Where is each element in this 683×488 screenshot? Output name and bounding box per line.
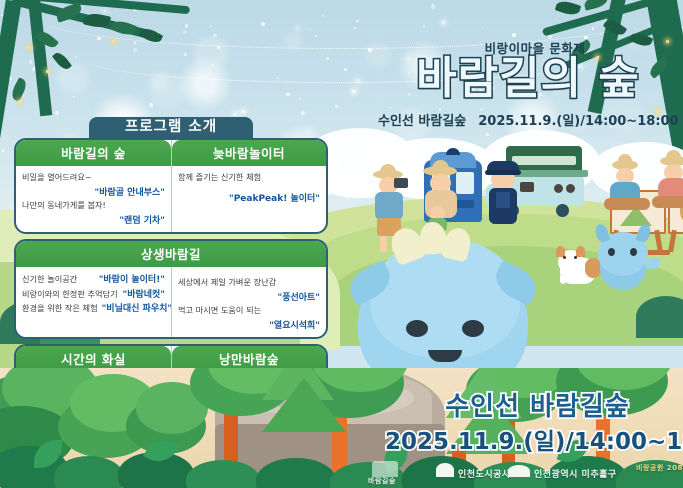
program-line-desc: 환경을 위한 작은 체험 [22, 302, 98, 314]
subline-place: 수인선 바람길숲 [378, 114, 466, 129]
program-line: 환경을 위한 작은 체험 "비닐대신 파우치" [22, 301, 165, 314]
program-line: "랜덤 기차" [22, 213, 165, 226]
program-group-heading: 상생바람길 [16, 241, 326, 267]
footer-logo-4: 비랑공원 2080 [636, 463, 683, 473]
footer-logo-3: 인천광역시 미추홀구 [534, 467, 617, 480]
program-line: 세상에서 제일 가벼운 장난감 [178, 276, 320, 288]
program-line-desc: 비밀을 열어드려요~ [22, 171, 92, 183]
program-line: "풍선아트" [178, 290, 320, 303]
logo-mark-icon [508, 465, 530, 477]
program-line-tag: "바람이 놀이터!" [99, 272, 165, 285]
program-line: 나만의 동네가게를 봅자! [22, 199, 165, 211]
program-section-heading: 늦바람놀이터 [172, 140, 326, 166]
footer-logos: 바람길숲 인천도시공사 인천광역시 미추홀구 비랑공원 2080 [0, 455, 683, 488]
program-line: "열요시석희" [178, 318, 320, 331]
poster-subline: 수인선 바람길숲2025.11.9.(일)/14:00~18:00 [378, 110, 678, 129]
subline-datetime: 2025.11.9.(일)/14:00~18:00 [478, 114, 678, 129]
program-line-desc: 먹고 마시면 도움이 되는 [178, 304, 261, 316]
program-section-heading: 바람길의 숲 [16, 140, 171, 166]
logo-mark-icon [372, 461, 398, 477]
program-line-desc: 세상에서 제일 가벼운 장난감 [178, 276, 276, 288]
program-group: 상생바람길 신기한 놀이공간 "바람이 놀이터!" 비랑이와의 한정판 추억담기… [14, 239, 328, 339]
program-line: 신기한 놀이공간 "바람이 놀이터!" [22, 272, 165, 285]
logo-mark-icon [436, 463, 454, 477]
shrub [636, 296, 683, 338]
program-line-desc: 나만의 동네가게를 봅자! [22, 199, 106, 211]
program-section: 신기한 놀이공간 "바람이 놀이터!" 비랑이와의 한정판 추억담기 "바람네컷… [16, 267, 171, 338]
program-line-tag: "바람골 안내부스" [95, 185, 165, 198]
program-line-tag: "랜덤 기차" [119, 213, 165, 226]
program-line-desc: 함께 즐기는 신기한 체험 [178, 171, 261, 183]
program-section: 세상에서 제일 가벼운 장난감 "풍선아트" 먹고 마시면 도움이 되는 "열요… [171, 267, 326, 338]
bottom-title: 수인선 바람길숲 [395, 386, 680, 423]
poster-root: 비랑이마을 문화제 바람길의 숲 수인선 바람길숲2025.11.9.(일)/1… [0, 0, 683, 488]
footer-logo-1: 바람길숲 [368, 476, 396, 486]
program-panel-title: 프로그램 소개 [89, 117, 253, 138]
program-line-tag: "PeakPeak! 놀이터" [229, 191, 320, 204]
program-line-tag: "풍선아트" [278, 290, 321, 303]
poster-title: 바람길의 숲 [378, 52, 678, 106]
program-line: 함께 즐기는 신기한 체험 [178, 171, 320, 183]
program-line: 비랑이와의 한정판 추억담기 "바람네컷" [22, 287, 165, 300]
program-line-tag: "비닐대신 파우치" [102, 301, 172, 314]
program-line-desc: 비랑이와의 한정판 추억담기 [22, 288, 118, 300]
bottom-date: 2025.11.9.(일)/14:00~18:00 [385, 422, 683, 456]
program-line: "PeakPeak! 놀이터" [178, 191, 320, 204]
program-line-tag: "열요시석희" [269, 318, 320, 331]
footer-logo-2: 인천도시공사 [458, 467, 511, 480]
program-line-desc: 신기한 놀이공간 [22, 273, 77, 285]
program-line-tag: "바람네컷" [123, 287, 166, 300]
program-section: 늦바람놀이터 함께 즐기는 신기한 체험 "PeakPeak! 놀이터" [171, 140, 326, 232]
program-group: 바람길의 숲 비밀을 열어드려요~ "바람골 안내부스" 나만의 동네가게를 봅… [14, 138, 328, 234]
program-section: 바람길의 숲 비밀을 열어드려요~ "바람골 안내부스" 나만의 동네가게를 봅… [16, 140, 171, 232]
program-line: "바람골 안내부스" [22, 185, 165, 198]
program-line: 비밀을 열어드려요~ [22, 171, 165, 183]
program-line: 먹고 마시면 도움이 되는 [178, 304, 320, 316]
